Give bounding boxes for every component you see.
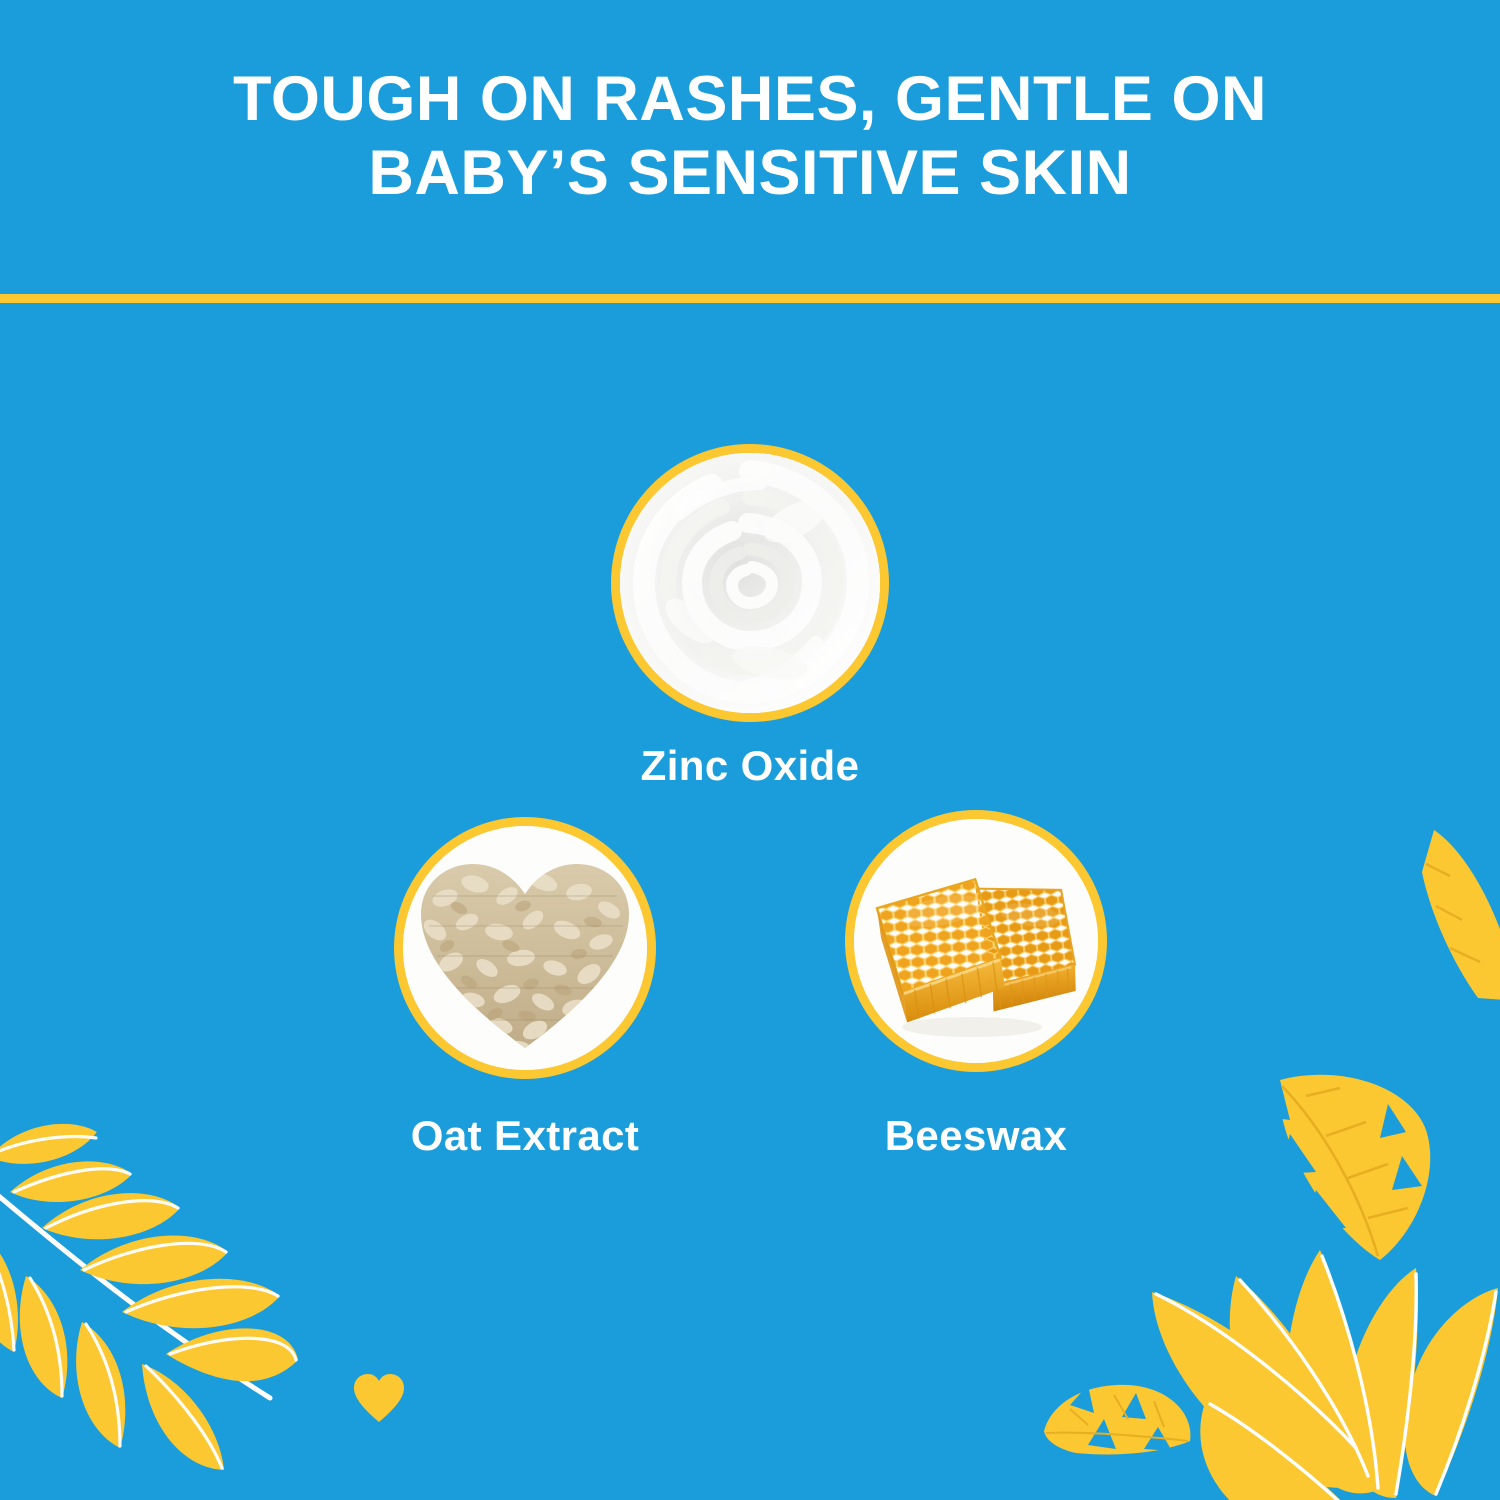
product-infographic: TOUGH ON RASHES, GENTLE ON BABY’S SENSIT… bbox=[0, 0, 1500, 1500]
honeycomb-icon bbox=[854, 819, 1098, 1063]
oat-heart-icon bbox=[403, 826, 647, 1070]
monstera-leaf-fragment-icon bbox=[1400, 820, 1500, 1000]
small-heart-icon bbox=[352, 1372, 406, 1424]
small-monstera-leaf-icon bbox=[1030, 1375, 1200, 1485]
ingredient-label-zinc-oxide: Zinc Oxide bbox=[450, 742, 1050, 790]
ingredient-label-beeswax: Beeswax bbox=[726, 1112, 1226, 1160]
cream-swirl-detail-icon bbox=[620, 453, 880, 713]
headline-line-1: TOUGH ON RASHES, GENTLE ON bbox=[120, 62, 1380, 136]
header-divider-rule bbox=[0, 294, 1500, 303]
beeswax-image bbox=[854, 819, 1098, 1063]
oat-extract-image bbox=[403, 826, 647, 1070]
headline-line-2: BABY’S SENSITIVE SKIN bbox=[120, 136, 1380, 210]
ingredient-circle-beeswax bbox=[845, 810, 1107, 1072]
zinc-oxide-image bbox=[620, 453, 880, 713]
ingredient-circle-oat-extract bbox=[394, 817, 656, 1079]
ingredient-label-oat-extract: Oat Extract bbox=[275, 1112, 775, 1160]
page-title: TOUGH ON RASHES, GENTLE ON BABY’S SENSIT… bbox=[120, 62, 1380, 211]
ingredient-circle-zinc-oxide bbox=[611, 444, 889, 722]
